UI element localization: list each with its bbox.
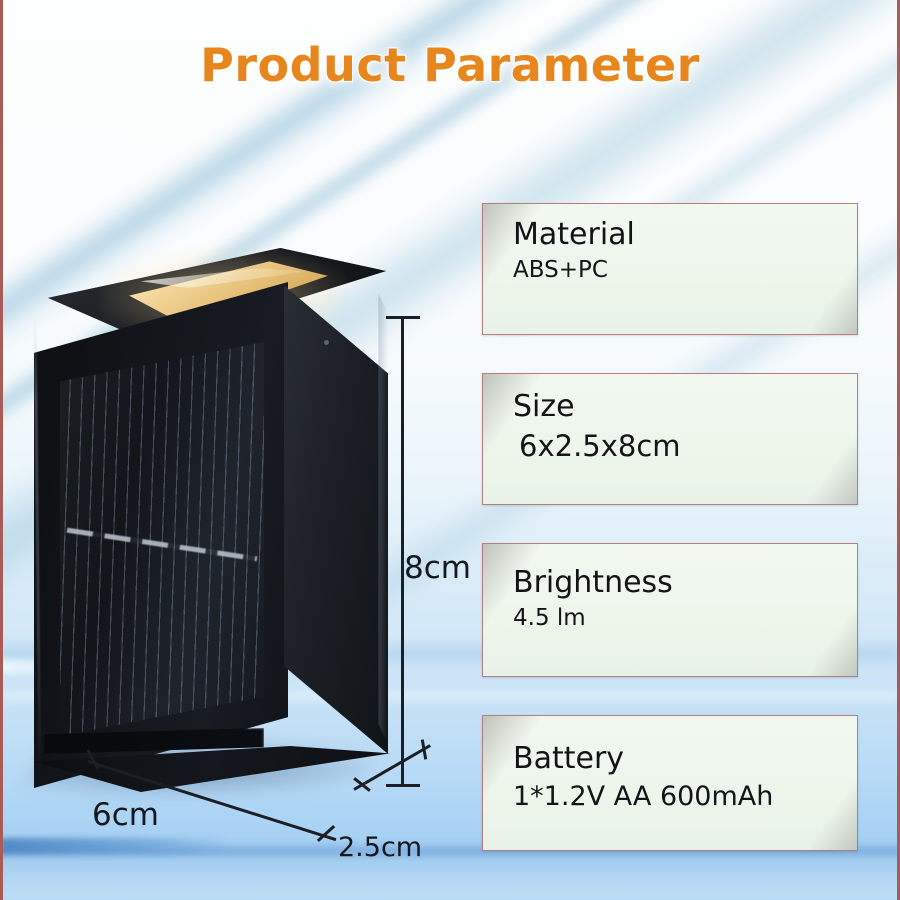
- parameter-value: ABS+PC: [513, 257, 857, 285]
- depth-dimension-label: 2.5cm: [338, 832, 422, 863]
- parameter-label: Brightness: [513, 566, 857, 601]
- parameter-card-list: Material ABS+PC Size 6x2.5x8cm Brightnes…: [482, 203, 858, 851]
- product-side-edge-highlight: [378, 284, 388, 752]
- parameter-card-material: Material ABS+PC: [482, 203, 858, 335]
- parameter-value: 1*1.2V AA 600mAh: [513, 781, 857, 813]
- product-sensor-dot: [324, 340, 329, 345]
- parameter-label: Battery: [513, 742, 857, 777]
- parameter-label: Material: [513, 218, 857, 253]
- parameter-value: 4.5 lm: [513, 605, 857, 633]
- parameter-card-battery: Battery 1*1.2V AA 600mAh: [482, 715, 858, 851]
- solar-panel: [60, 342, 264, 736]
- height-dimension-cap-bottom: [386, 784, 420, 787]
- parameter-value: 6x2.5x8cm: [513, 429, 857, 464]
- parameter-card-brightness: Brightness 4.5 lm: [482, 543, 858, 677]
- solar-panel-sheen: [60, 342, 264, 736]
- width-dimension-label: 6cm: [92, 797, 159, 833]
- height-dimension-label: 8cm: [404, 550, 471, 586]
- parameter-label: Size: [513, 390, 857, 425]
- page-title: Product Parameter: [0, 38, 900, 92]
- parameter-card-size: Size 6x2.5x8cm: [482, 373, 858, 505]
- product-side-face: [284, 266, 388, 754]
- product-parameter-infographic: Product Parameter 8cm 6cm 2.5cm Mate: [0, 0, 900, 900]
- product-image: [26, 248, 426, 848]
